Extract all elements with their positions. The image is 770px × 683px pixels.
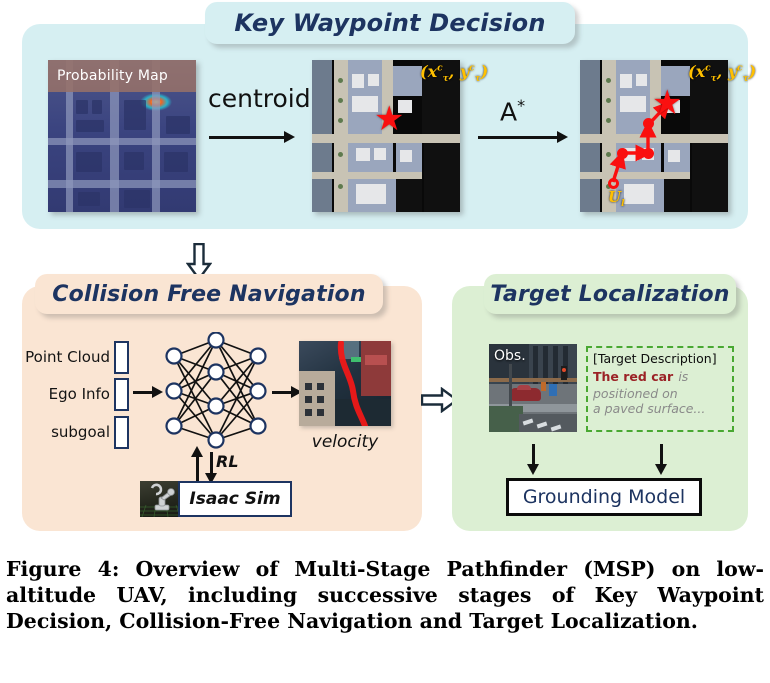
- waypoint-2: [643, 148, 654, 159]
- centroid-operator-label: centroid: [208, 84, 311, 113]
- observation-label: Obs.: [494, 348, 526, 364]
- input-box-point-cloud: [114, 341, 129, 374]
- target-description-header: [Target Description]: [593, 351, 727, 366]
- target-description-highlight: The red car: [593, 369, 673, 384]
- robot-arm-icon: [140, 481, 182, 517]
- target-coordinate-label-2: (xcτ, ycτ): [688, 62, 756, 84]
- panel-title-collision-free-navigation: Collision Free Navigation: [35, 274, 383, 314]
- policy-network-diagram: [158, 332, 274, 450]
- velocity-path: [299, 341, 391, 426]
- isaac-sim-block: Isaac Sim: [140, 481, 292, 517]
- probability-map-image: Probability Map: [48, 60, 196, 212]
- target-description-line3: a paved surface...: [593, 401, 727, 416]
- figure-caption: Figure 4: Overview of Multi-Stage Pathfi…: [6, 556, 764, 635]
- velocity-label: velocity: [299, 432, 391, 452]
- target-description-box: [Target Description] The red car is posi…: [586, 346, 734, 432]
- isaac-sim-label: Isaac Sim: [178, 481, 292, 517]
- panel-title-target-localization: Target Localization: [484, 274, 736, 314]
- target-star-icon-2: ★: [652, 86, 682, 120]
- input-label-subgoal: subgoal: [10, 423, 110, 441]
- input-box-ego-info: [114, 378, 129, 411]
- velocity-trajectory-image: [299, 341, 391, 426]
- target-coordinate-label-1: (xcτ, ycτ): [420, 62, 488, 84]
- grounding-model-box: Grounding Model: [506, 478, 702, 516]
- panel-title-key-waypoint-decision: Key Waypoint Decision: [205, 2, 575, 44]
- target-description-line1: is: [678, 369, 688, 384]
- input-label-point-cloud: Point Cloud: [10, 348, 110, 366]
- path-label-ul: Ul: [608, 188, 625, 209]
- target-star-icon: ★: [374, 102, 404, 136]
- astar-operator-label: A*: [500, 96, 525, 126]
- target-description-line2: positioned on: [593, 386, 727, 401]
- probability-map-label: Probability Map: [48, 60, 196, 92]
- rl-label: RL: [216, 452, 239, 471]
- waypoint-1: [617, 148, 628, 159]
- figure-canvas: Probability Map centroid ★: [0, 0, 770, 548]
- observation-image: Obs.: [489, 344, 577, 432]
- input-box-subgoal: [114, 416, 129, 449]
- input-label-ego-info: Ego Info: [10, 385, 110, 403]
